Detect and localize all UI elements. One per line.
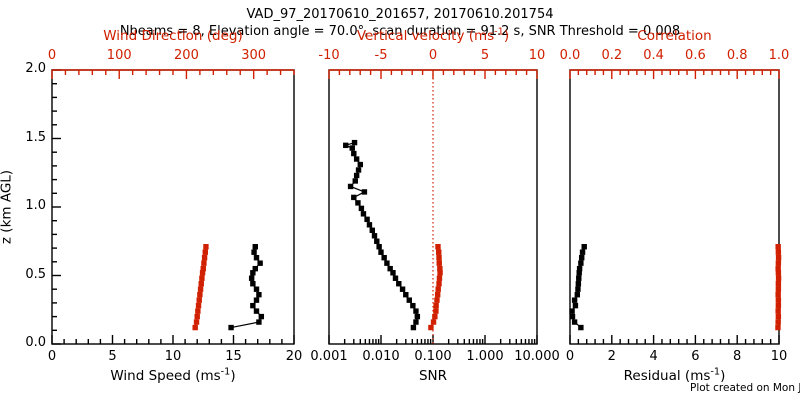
series-wind-direction <box>193 244 209 330</box>
panel2-top-tick-3: 0.6 <box>685 49 706 62</box>
panel1-top-tick-2: 0 <box>429 49 437 62</box>
panel0-top-tick-3: 300 <box>241 49 266 62</box>
y-tick-label-2: 1.0 <box>25 199 46 212</box>
panel2-bottom-tick-0: 0 <box>566 350 574 363</box>
panel0-bottom-tick-3: 15 <box>225 350 242 363</box>
y-tick-label-0: 0.0 <box>25 336 46 349</box>
panel1-top-axis-title: Vertical velocity (ms-1) <box>357 30 509 44</box>
panel2-bottom-axis-title: Residual (ms-1) <box>624 370 726 384</box>
panel2-bottom-tick-4: 8 <box>733 350 741 363</box>
panel2-bottom-tick-3: 6 <box>691 350 699 363</box>
panel1-bottom-tick-3: 1.000 <box>466 350 503 363</box>
panel0-top-tick-0: 0 <box>48 49 56 62</box>
panel1-bottom-tick-1: 0.010 <box>362 350 399 363</box>
y-tick-label-3: 1.5 <box>25 131 46 144</box>
panel1-bottom-tick-0: 0.001 <box>310 350 347 363</box>
panel0-top-tick-1: 100 <box>107 49 132 62</box>
y-tick-label-1: 0.5 <box>25 268 46 281</box>
series-wind-speed <box>229 244 264 330</box>
panel0-bottom-axis-title: Wind Speed (ms-1) <box>110 370 235 384</box>
series-correlation <box>776 244 781 330</box>
panel0-bottom-tick-2: 10 <box>165 350 182 363</box>
panel2-bottom-tick-5: 10 <box>771 350 788 363</box>
panel2-bottom-tick-1: 2 <box>608 350 616 363</box>
series-vertical-velocity <box>429 244 443 330</box>
panel1-top-tick-1: -5 <box>375 49 388 62</box>
panel1-top-tick-3: 5 <box>481 49 489 62</box>
panel2-top-tick-4: 0.8 <box>727 49 748 62</box>
panel1-bottom-axis-title: SNR <box>419 370 447 384</box>
series-snr <box>343 140 419 330</box>
panel2-top-tick-2: 0.4 <box>643 49 664 62</box>
panel1-top-tick-4: 10 <box>529 49 546 62</box>
panel0-top-tick-2: 200 <box>174 49 199 62</box>
panel2-top-tick-0: 0.0 <box>560 49 581 62</box>
vad-plot-figure: VAD_97_20170610_201657, 20170610.201754 … <box>0 0 800 400</box>
panel1-bottom-tick-2: 0.100 <box>414 350 451 363</box>
panel0-bottom-tick-4: 20 <box>286 350 303 363</box>
panel2-top-axis-title: Correlation <box>637 30 711 44</box>
panel1-bottom-tick-4: 10.000 <box>514 350 560 363</box>
y-tick-label-4: 2.0 <box>25 62 46 75</box>
panel1-top-tick-0: -10 <box>318 49 339 62</box>
panel2-top-tick-5: 1.0 <box>769 49 790 62</box>
panel0-bottom-tick-0: 0 <box>48 350 56 363</box>
panel2-top-tick-1: 0.2 <box>601 49 622 62</box>
panel2-bottom-tick-2: 4 <box>649 350 657 363</box>
series-residual <box>570 244 587 330</box>
panel0-top-axis-title: Wind Direction (deg) <box>103 30 242 44</box>
panel0-bottom-tick-1: 5 <box>108 350 116 363</box>
